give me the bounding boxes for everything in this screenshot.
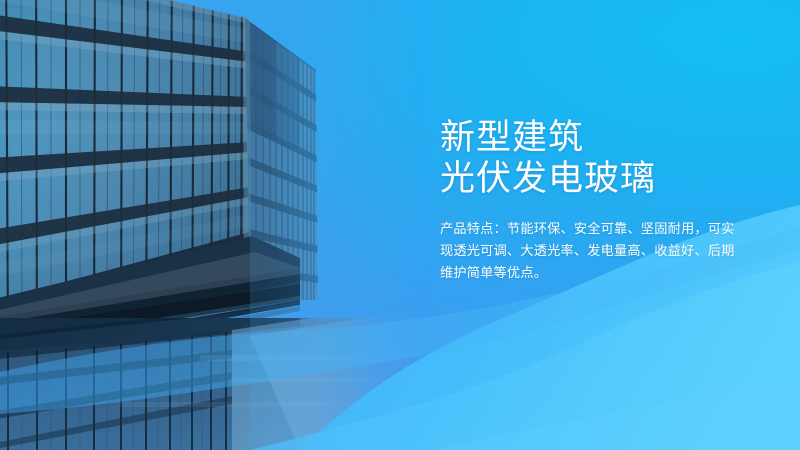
page-title: 新型建筑 光伏发电玻璃 xyxy=(440,118,770,200)
promo-poster: 新型建筑 光伏发电玻璃 产品特点：节能环保、安全可靠、坚固耐用，可实现透光可调、… xyxy=(0,0,800,450)
poster-copy: 新型建筑 光伏发电玻璃 产品特点：节能环保、安全可靠、坚固耐用，可实现透光可调、… xyxy=(440,118,770,285)
product-description: 产品特点：节能环保、安全可靠、坚固耐用，可实现透光可调、大透光率、发电量高、收益… xyxy=(440,219,740,285)
headline-line-1: 新型建筑 xyxy=(440,118,584,158)
headline-line-2: 光伏发电玻璃 xyxy=(440,159,770,200)
